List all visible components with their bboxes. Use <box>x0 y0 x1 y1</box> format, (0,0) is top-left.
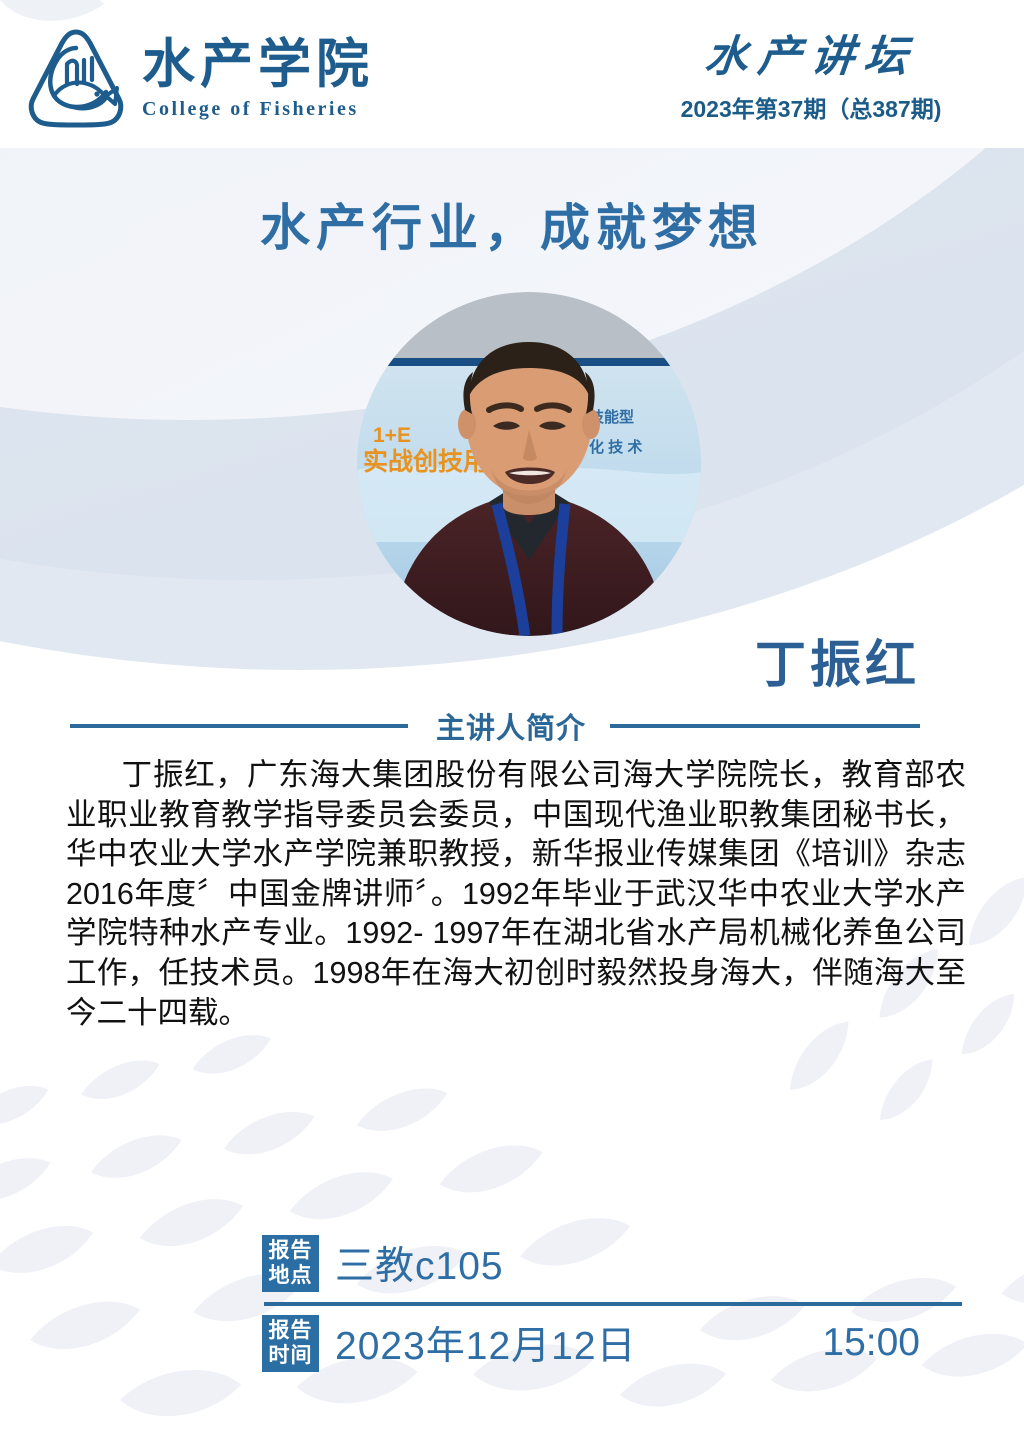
svg-text:1+E: 1+E <box>373 424 411 447</box>
forum-title: 水产讲坛 <box>654 34 969 81</box>
fish-shield-logo-icon <box>24 26 128 132</box>
location-badge: 报告 地点 <box>262 1235 319 1292</box>
section-heading-text: 主讲人简介 <box>436 705 586 747</box>
time-value: 15:00 <box>822 1321 920 1365</box>
section-heading-row: 主讲人简介 <box>0 706 1024 746</box>
svg-text:实战创技用: 实战创技用 <box>363 447 488 476</box>
college-name-cn: 水产学院 <box>142 37 374 93</box>
date-value: 2023年12月12日 <box>335 1315 637 1371</box>
poster-root: 水产学院 College of Fisheries 水产讲坛 2023年第37期… <box>0 0 1024 1448</box>
speaker-portrait: 1+E 实战创技用 技能型 化 技 术 <box>357 292 701 636</box>
info-divider <box>264 1302 962 1306</box>
event-info: 报告 地点 三教c105 报告 时间 2023年12月12日 15:00 <box>262 1232 972 1374</box>
location-badge-line1: 报告 <box>269 1238 313 1263</box>
issue-number: 2023年第37期（总387期) <box>656 90 966 124</box>
location-value: 三教c105 <box>335 1235 504 1291</box>
time-row: 报告 时间 2023年12月12日 15:00 <box>262 1312 972 1374</box>
college-logo-text: 水产学院 College of Fisheries <box>142 37 374 120</box>
speaker-name: 丁振红 <box>755 623 920 697</box>
heading-rule-right <box>610 724 920 728</box>
location-row: 报告 地点 三教c105 <box>262 1232 972 1294</box>
time-badge-line2: 时间 <box>269 1343 313 1368</box>
page-title: 水产行业，成就梦想 <box>0 188 1024 260</box>
poster-header: 水产学院 College of Fisheries 水产讲坛 2023年第37期… <box>0 0 1024 148</box>
time-badge: 报告 时间 <box>262 1315 319 1372</box>
college-logo-block: 水产学院 College of Fisheries <box>24 26 374 132</box>
time-badge-line1: 报告 <box>269 1318 313 1343</box>
heading-rule-left <box>70 724 408 728</box>
location-badge-line2: 地点 <box>269 1263 313 1288</box>
forum-issue-block: 水产讲坛 2023年第37期（总387期) <box>656 34 966 124</box>
svg-text:化 技 术: 化 技 术 <box>589 438 642 456</box>
college-name-en: College of Fisheries <box>142 98 374 121</box>
speaker-bio: 丁振红，广东海大集团股份有限公司海大学院院长，教育部农业职业教育教学指导委员会委… <box>66 756 966 1033</box>
